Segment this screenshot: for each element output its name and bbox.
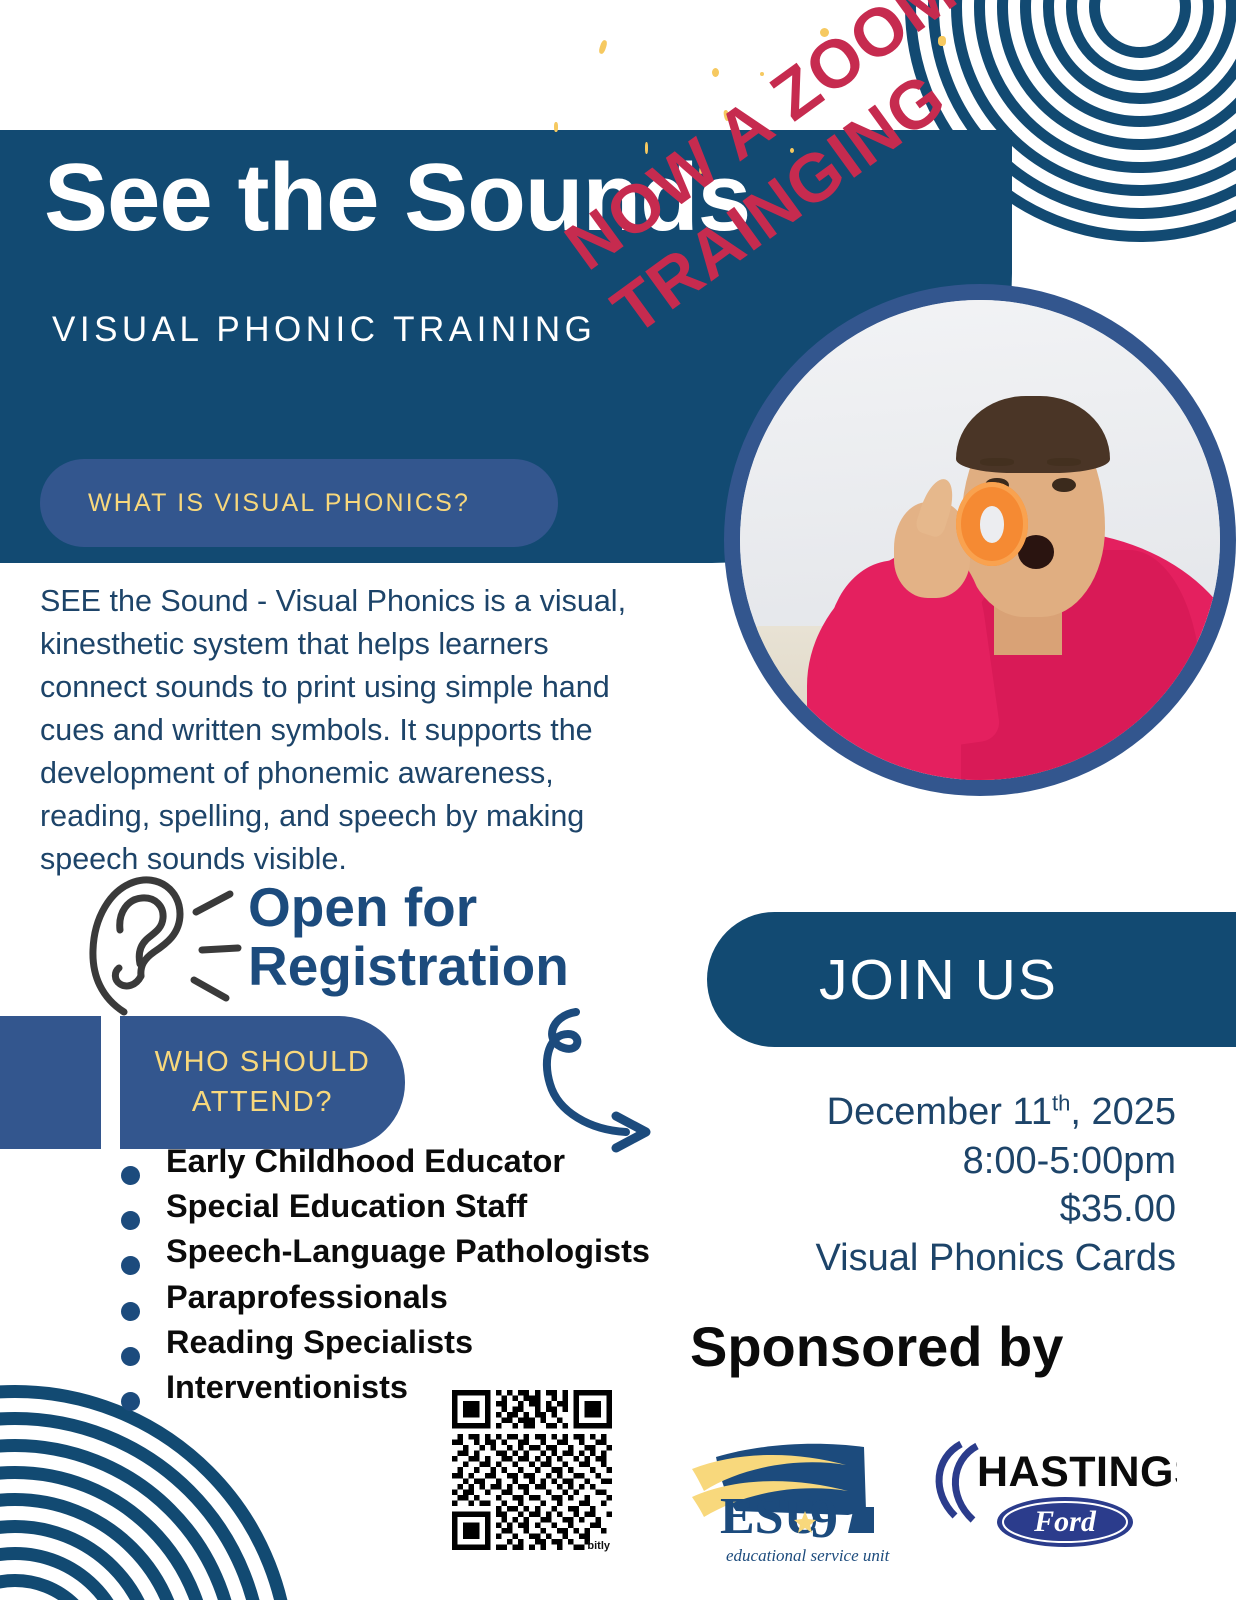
decorative-ring [1066, 0, 1214, 81]
decorative-ring [0, 1574, 106, 1600]
decorative-ring [0, 1493, 187, 1600]
confetti-speck [712, 68, 719, 77]
confetti-speck [760, 72, 764, 76]
what-is-visual-phonics-pill: WHAT IS VISUAL PHONICS? [40, 459, 558, 547]
join-us-label: JOIN US [707, 947, 1058, 1013]
who-should-attend-line-2: ATTEND? [192, 1083, 333, 1122]
event-date-year: , 2025 [1070, 1091, 1176, 1133]
open-for-registration-line-1: Open for [248, 878, 668, 937]
decorative-ring [0, 1385, 295, 1600]
open-for-registration-line-2: Registration [248, 937, 668, 996]
esu-tagline: educational service unit [726, 1546, 891, 1565]
ear-listening-icon [62, 868, 252, 1018]
who-should-attend-line-1: WHO SHOULD [155, 1043, 371, 1082]
concentric-rings-bottom-left-icon [0, 1385, 295, 1600]
photo-eye-right [1052, 478, 1076, 492]
confetti-speck [820, 28, 829, 37]
qr-code[interactable]: bitly [452, 1390, 612, 1550]
description-paragraph: SEE the Sound - Visual Phonics is a visu… [40, 580, 660, 881]
event-date: December 11 [827, 1091, 1052, 1133]
confetti-speck [938, 36, 946, 46]
photo-eyebrow-right [1047, 458, 1081, 466]
who-should-attend-pill: WHO SHOULD ATTEND? [120, 1016, 405, 1149]
confetti-speck [554, 122, 558, 132]
hastings-ford-logo: HASTINGS Ford [915, 1430, 1177, 1555]
orange-letter-o-icon [956, 482, 1028, 566]
event-date-ordinal: th [1052, 1090, 1070, 1115]
event-price: $35.00 [620, 1185, 1176, 1234]
esu9-logo: ESU 9 educational service unit [678, 1425, 893, 1585]
hastings-wordmark: HASTINGS [977, 1448, 1177, 1496]
photo-circle-frame [724, 284, 1236, 796]
confetti-speck [790, 148, 794, 153]
list-item: Interventionists [118, 1365, 718, 1410]
list-item: Reading Specialists [118, 1320, 718, 1365]
confetti-speck [598, 39, 608, 54]
decorative-ring [997, 0, 1236, 150]
decorative-ring [1020, 0, 1236, 127]
ford-wordmark: Ford [1033, 1505, 1097, 1538]
page-subtitle: VISUAL PHONIC TRAINING [52, 310, 596, 350]
qr-code-image[interactable] [452, 1390, 612, 1550]
what-is-visual-phonics-label: WHAT IS VISUAL PHONICS? [40, 489, 470, 518]
decorative-ring [974, 0, 1236, 173]
flyer-canvas: See the Sounds VISUAL PHONIC TRAINING NO… [0, 0, 1236, 1600]
qr-code-provider-label: bitly [587, 1540, 610, 1552]
esu-number: 9 [810, 1488, 838, 1550]
page-title: See the Sounds [44, 150, 750, 246]
student-photo [740, 300, 1220, 780]
decorative-ring [0, 1412, 268, 1600]
decorative-ring [1089, 0, 1191, 58]
join-us-banner: JOIN US [707, 912, 1236, 1047]
decorative-ring [0, 1547, 133, 1600]
event-materials: Visual Phonics Cards [620, 1234, 1176, 1283]
event-date-line: December 11th, 2025 [620, 1088, 1176, 1137]
decorative-ring [0, 1466, 214, 1600]
decorative-ring [1043, 0, 1236, 104]
sponsored-by-heading: Sponsored by [690, 1314, 1063, 1379]
decorative-blue-block [0, 1016, 101, 1149]
event-time: 8:00-5:00pm [620, 1137, 1176, 1186]
confetti-speck [723, 110, 730, 122]
event-details: December 11th, 2025 8:00-5:00pm $35.00 V… [620, 1088, 1176, 1283]
photo-eyebrow-left [980, 458, 1014, 466]
open-for-registration-heading: Open for Registration [248, 878, 668, 996]
decorative-ring [0, 1439, 241, 1600]
decorative-ring [0, 1520, 160, 1600]
